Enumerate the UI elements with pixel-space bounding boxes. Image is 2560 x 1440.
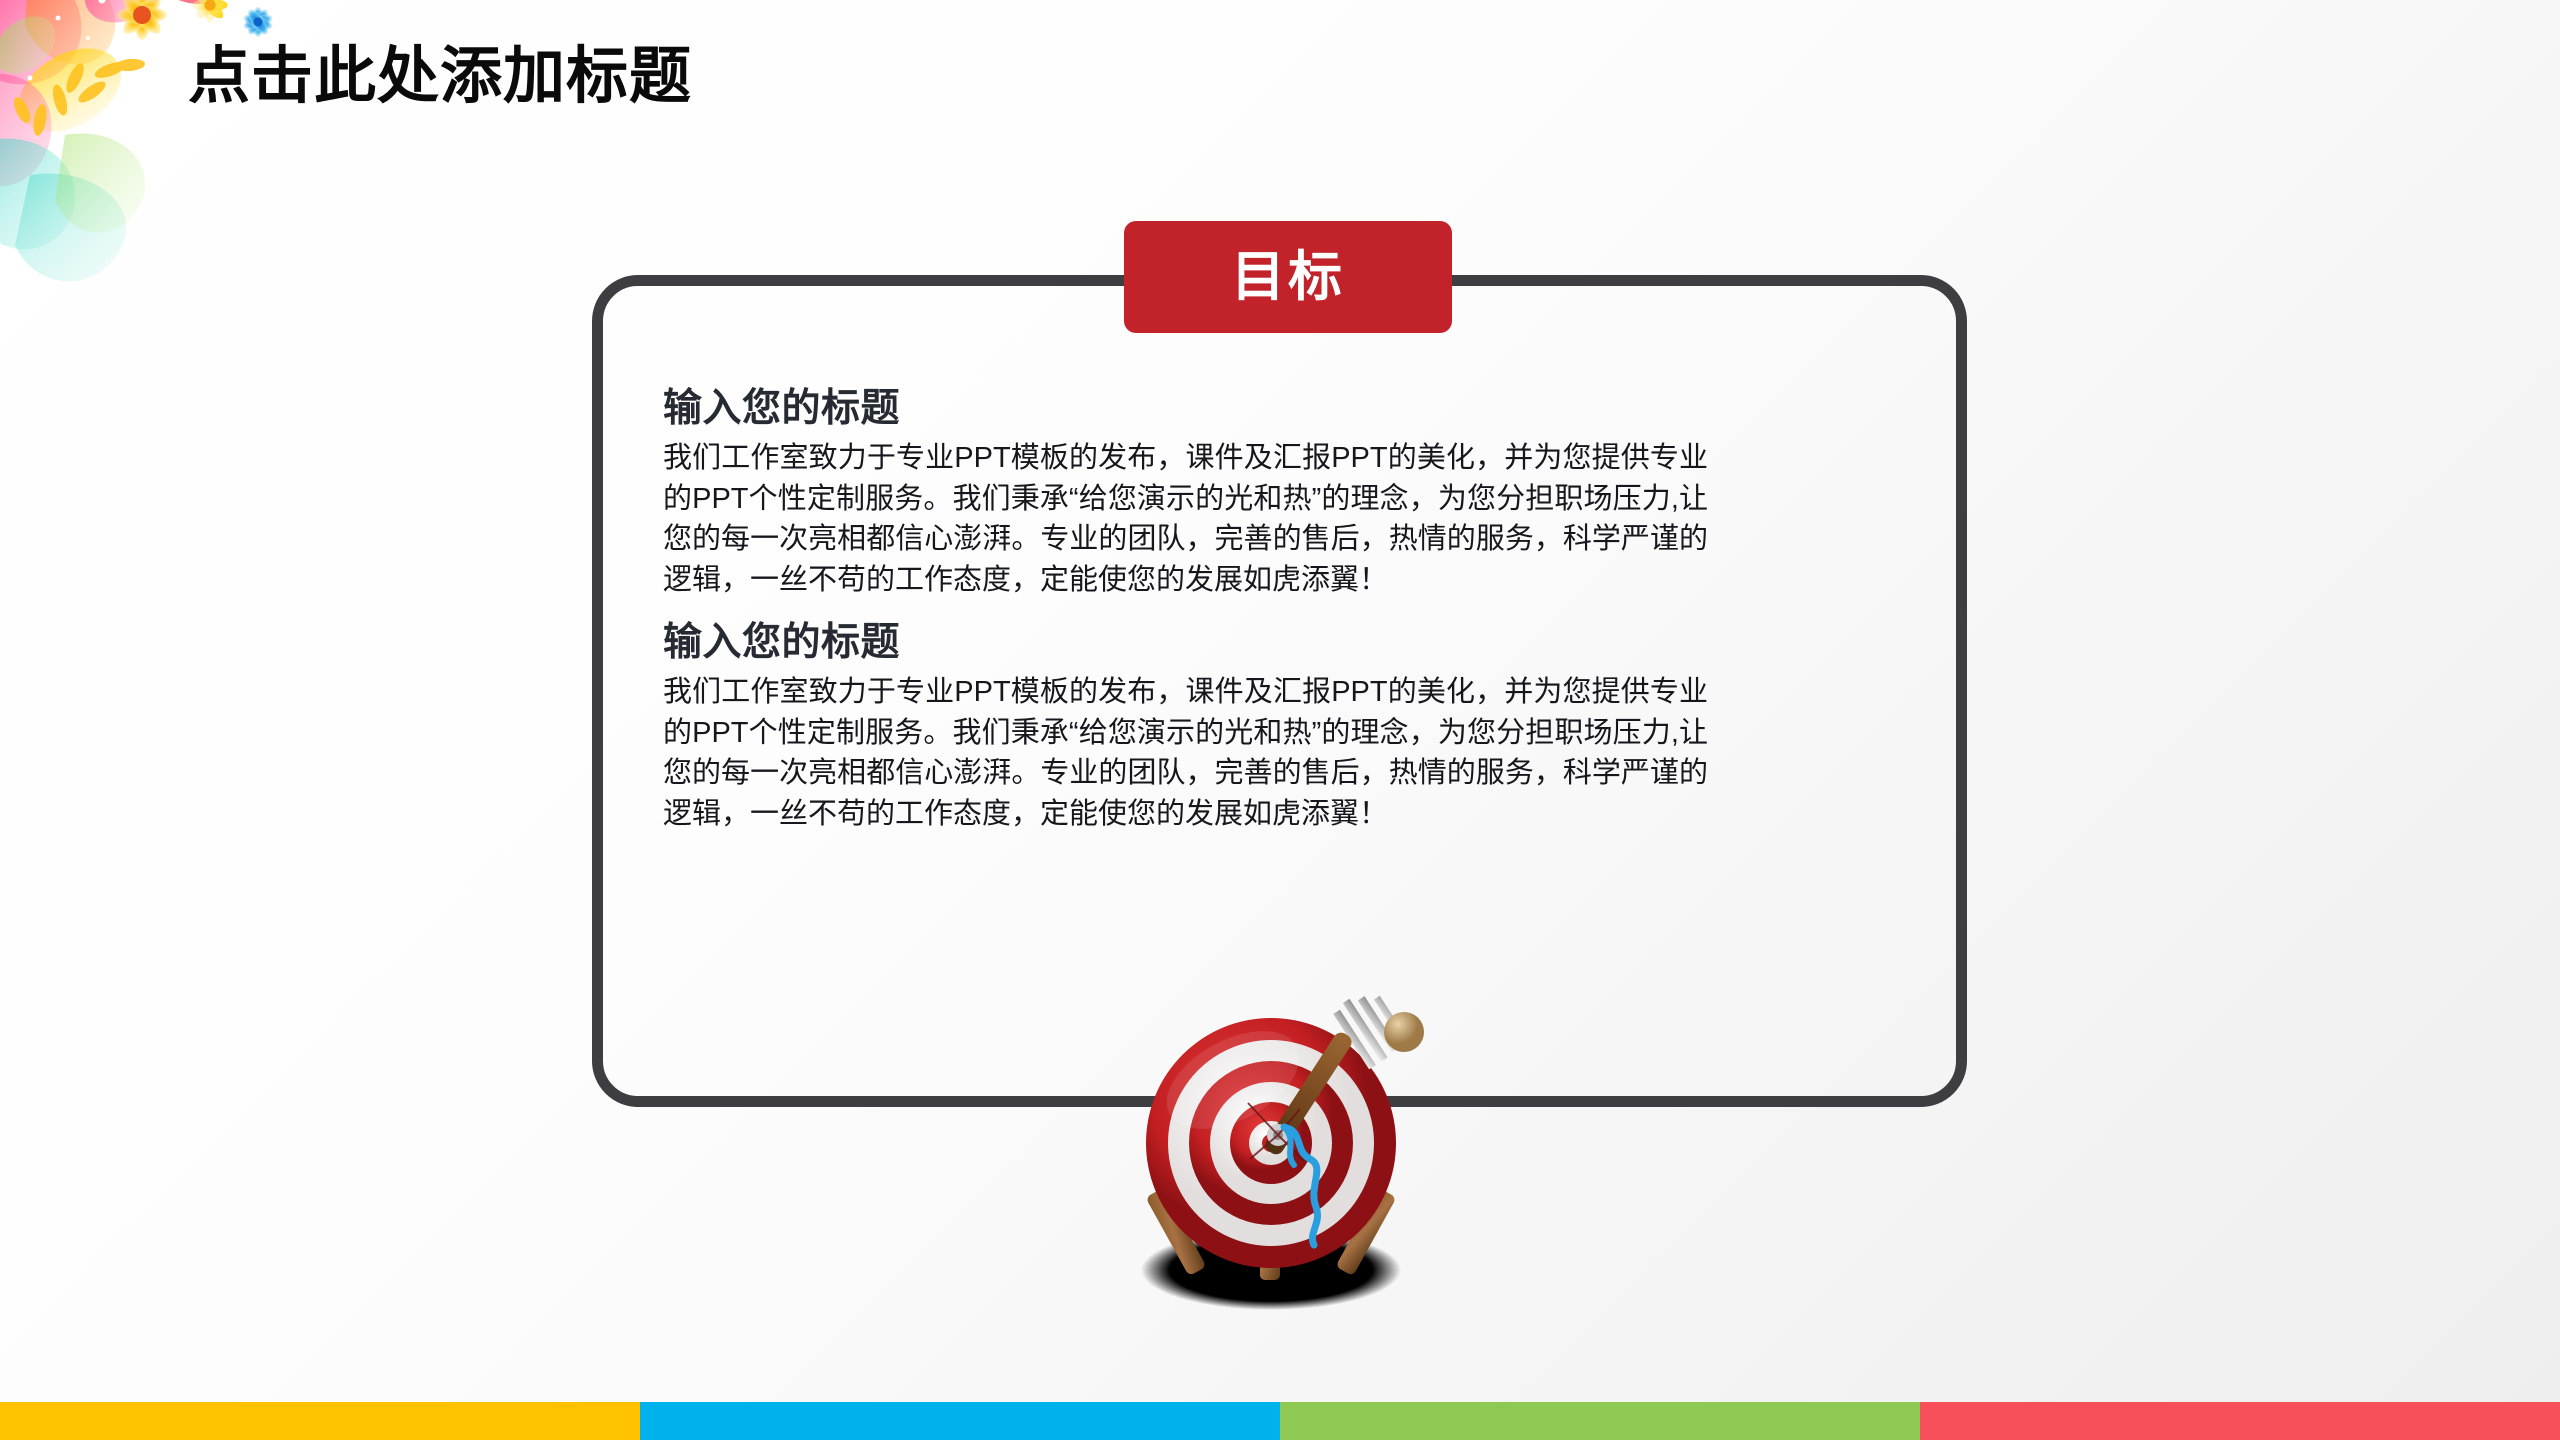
block-body-2: 我们工作室致力于专业PPT模板的发布，课件及汇报PPT的美化，并为您提供专业的P… [663,672,1708,834]
color-segment-yellow [0,1402,640,1440]
section-badge: 目标 [1124,221,1452,333]
block-body-1: 我们工作室致力于专业PPT模板的发布，课件及汇报PPT的美化，并为您提供专业的P… [663,438,1708,600]
bottom-color-strip [0,1402,2560,1440]
content-blocks: 输入您的标题 我们工作室致力于专业PPT模板的发布，课件及汇报PPT的美化，并为… [663,384,1723,853]
block-heading-1: 输入您的标题 [663,384,1723,434]
section-badge-label: 目标 [1231,250,1345,304]
color-segment-blue [640,1402,1280,1440]
content-block-1: 输入您的标题 我们工作室致力于专业PPT模板的发布，课件及汇报PPT的美化，并为… [663,384,1723,600]
slide-canvas: 点击此处添加标题 目标 输入您的标题 我们工作室致力于专业PPT模板的发布，课件… [0,0,2560,1440]
archery-target-icon [1108,975,1438,1320]
content-block-2: 输入您的标题 我们工作室致力于专业PPT模板的发布，课件及汇报PPT的美化，并为… [663,618,1723,834]
color-segment-red [1920,1402,2560,1440]
block-heading-2: 输入您的标题 [663,618,1723,668]
color-segment-green [1280,1402,1920,1440]
page-title: 点击此处添加标题 [188,38,692,116]
